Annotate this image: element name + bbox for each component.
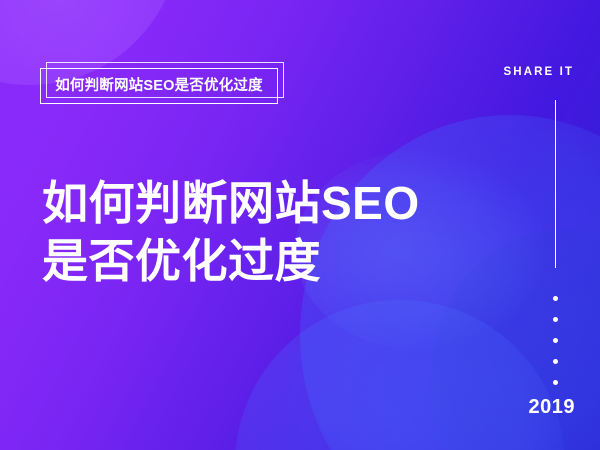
decorative-blob-bottom-center: [235, 300, 565, 450]
year-label: 2019: [529, 396, 576, 419]
rail-dot: [553, 380, 558, 385]
dot-column-decoration: [553, 296, 559, 401]
rail-dot: [553, 338, 558, 343]
rail-dot: [553, 317, 558, 322]
vertical-rule-decoration: [555, 100, 556, 268]
poster-canvas: 如何判断网站SEO是否优化过度 如何判断网站SEO 是否优化过度 SHARE I…: [0, 0, 600, 450]
rail-dot: [553, 296, 558, 301]
title-line-1: 如何判断网站SEO: [42, 174, 462, 232]
rail-dot: [553, 359, 558, 364]
title-line-2: 是否优化过度: [42, 232, 462, 290]
share-it-label: SHARE IT: [504, 66, 574, 78]
badge-label: 如何判断网站SEO是否优化过度: [55, 79, 263, 94]
badge-frame-front: 如何判断网站SEO是否优化过度: [40, 68, 278, 104]
page-title: 如何判断网站SEO 是否优化过度: [42, 174, 462, 290]
subtitle-badge: 如何判断网站SEO是否优化过度: [40, 62, 284, 104]
